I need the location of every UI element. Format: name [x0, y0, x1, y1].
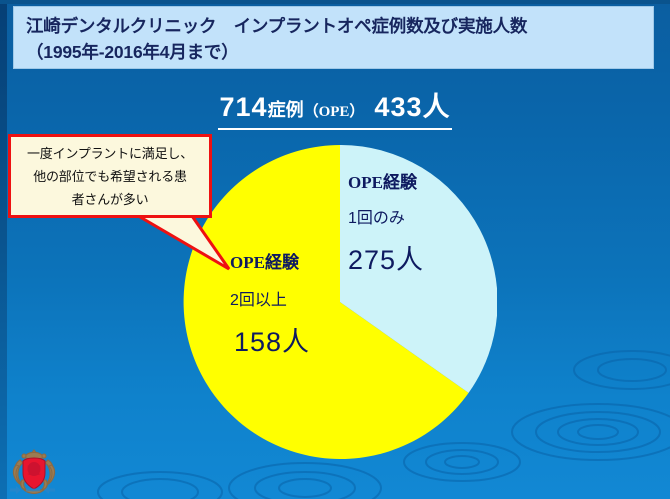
callout-line-2: 他の部位でも希望される患: [17, 165, 203, 188]
callout-line-1: 一度インプラントに満足し、: [17, 142, 203, 165]
total-cases-paren: （OPE）: [304, 104, 365, 120]
pie-label-multi-title: OPE経験: [230, 248, 299, 273]
slide-title-line-1: 江崎デンタルクリニック インプラントオペ症例数及び実施人数: [26, 13, 653, 39]
total-people-unit: 人: [422, 92, 450, 122]
slide-top-edge-strip: [0, 0, 670, 4]
pie-chart: OPE経験 1回のみ 275人 OPE経験 2回以上 158人: [183, 145, 497, 459]
pie-label-multi-value: 158人: [234, 320, 310, 359]
total-cases-unit: 症例: [268, 100, 304, 120]
pie-label-once-title: OPE経験: [348, 168, 417, 193]
total-cases-number: 714: [220, 92, 268, 122]
slide-left-edge-strip: [0, 0, 7, 499]
callout-line-3: 者さんが多い: [17, 188, 203, 211]
pie-label-multi-subtitle: 2回以上: [230, 286, 287, 310]
chart-headline-underlined: 714症例（OPE）433人: [218, 92, 453, 130]
pie-label-once-value: 275人: [348, 238, 424, 277]
callout-annotation-box: 一度インプラントに満足し、 他の部位でも希望される患 者さんが多い: [8, 134, 212, 218]
slide-title-line-2: （1995年-2016年4月まで）: [26, 39, 653, 65]
chart-headline: 714症例（OPE）433人: [0, 92, 670, 130]
total-people-number: 433: [374, 92, 422, 122]
slide-title-box: 江崎デンタルクリニック インプラントオペ症例数及び実施人数 （1995年-201…: [13, 6, 654, 69]
presentation-slide: 江崎デンタルクリニック インプラントオペ症例数及び実施人数 （1995年-201…: [0, 0, 670, 499]
pie-label-once-subtitle: 1回のみ: [348, 204, 405, 228]
navigation-arrows-decoration: [2, 484, 62, 496]
